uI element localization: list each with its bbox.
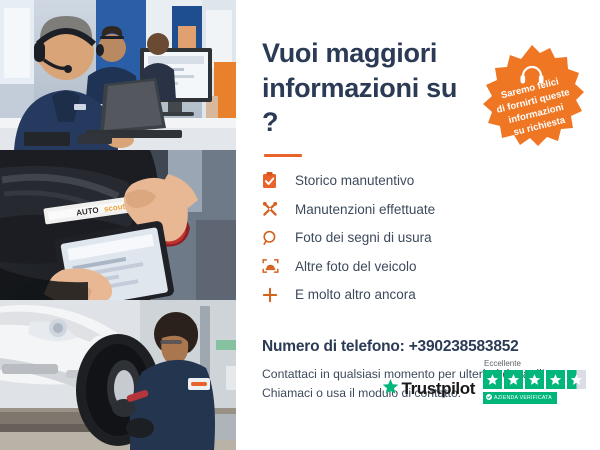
phone-number[interactable]: +390238583852 [409,338,519,355]
feature-label: Foto dei segni di usura [295,230,432,245]
status-badge: AZIENDA VERIFICATA [483,392,557,404]
feature-item-manutenzioni: Manutenzioni effettuate [262,195,578,224]
feature-item-storico: Storico manutentivo [262,167,578,196]
feature-item-altro-ancora: E molto altro ancora [262,281,578,310]
verified-label: AZIENDA VERIFICATA [494,395,552,401]
headline-line-2: informazioni su ? [262,73,457,138]
star-icon [382,378,399,400]
crossed-tools-icon [262,201,286,217]
feature-label: E molto altro ancora [295,287,416,302]
star-half-icon [567,370,586,389]
promo-banner: AUTO scout [0,0,600,450]
feature-label: Manutenzioni effettuate [295,202,435,217]
star-icon [525,370,544,389]
photo-column: AUTO scout [0,0,236,450]
photo-workshop [0,300,236,450]
phone-label: Numero di telefono: [262,338,409,355]
feature-label: Storico manutentivo [295,173,414,188]
car-frame-icon [262,258,286,274]
rating-word: Eccellente [484,359,521,368]
plus-icon [262,287,286,303]
photo-inspection: AUTO scout [0,150,236,300]
feature-list: Storico manutentivo Manutenzioni effettu… [262,167,578,310]
star-icon [504,370,523,389]
star-icon [546,370,565,389]
feature-label: Altre foto del veicolo [295,259,417,274]
feature-item-altre-foto: Altre foto del veicolo [262,252,578,281]
magnifier-icon [262,230,286,246]
trustpilot-wordmark: Trustpilot [402,379,475,399]
star-rating [483,370,586,389]
trustpilot-rating: Eccellente [483,359,586,404]
headline-line-1: Vuoi maggiori [262,38,437,68]
title-divider [264,154,302,157]
feature-item-foto-usura: Foto dei segni di usura [262,224,578,253]
clipboard-check-icon [262,172,286,189]
trustpilot-widget[interactable]: Trustpilot Eccellente [382,359,586,404]
verified-check-icon [486,394,492,402]
trustpilot-logo: Trustpilot [382,378,475,404]
content-column: Vuoi maggiori informazioni su ? Saremo f… [236,0,600,450]
callout-badge: Saremo felici di fornirti queste informa… [478,43,586,151]
phone-line: Numero di telefono: +390238583852 [262,338,578,356]
page-title: Vuoi maggiori informazioni su ? [262,36,472,140]
photo-call-center [0,0,236,150]
star-icon [483,370,502,389]
